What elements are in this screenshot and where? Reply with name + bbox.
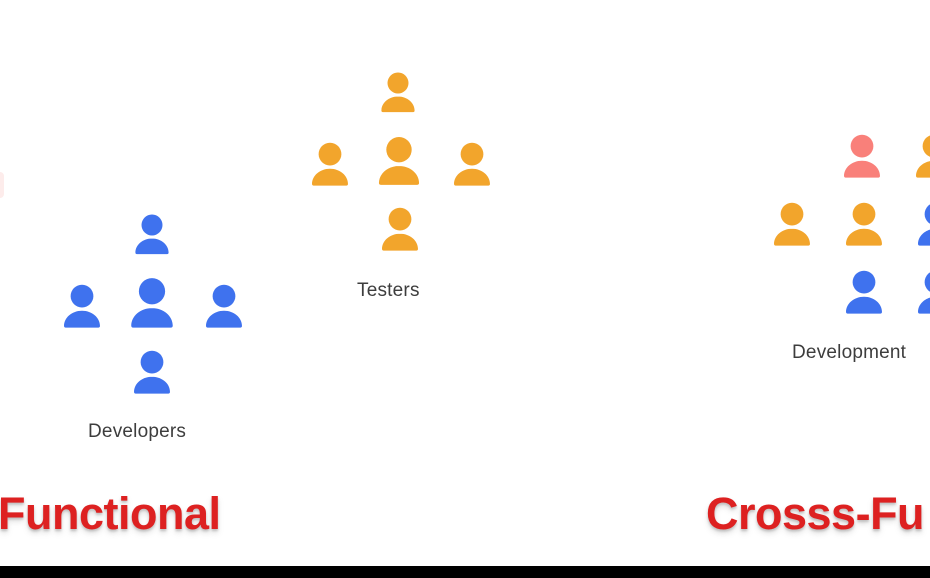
person-icon (766, 200, 818, 252)
person-icon (910, 268, 930, 320)
person-icon (374, 70, 422, 118)
group-label-testers: Testers (357, 280, 420, 302)
person-icon (838, 268, 890, 320)
person-icon (128, 212, 176, 260)
person-icon (374, 205, 426, 257)
person-icon (910, 200, 930, 252)
clipped-edge-artifact (0, 172, 4, 198)
person-icon (126, 348, 178, 400)
bottom-black-bar (0, 566, 930, 578)
caption-functional: Functional (0, 488, 220, 540)
person-icon (56, 282, 108, 334)
caption-functional-text: Functional (0, 488, 220, 539)
person-icon (370, 134, 428, 192)
person-icon (836, 132, 888, 184)
person-icon (838, 200, 890, 252)
person-icon (304, 140, 356, 192)
person-icon (198, 282, 250, 334)
slide-canvas: Developers (0, 0, 930, 578)
person-icon (446, 140, 498, 192)
caption-cross-functional: Crosss-Fu (706, 488, 924, 540)
caption-cross-functional-text: Crosss-Fu (706, 488, 924, 539)
person-icon (908, 132, 930, 184)
group-label-developers: Developers (88, 421, 186, 443)
person-icon (122, 275, 182, 335)
group-label-development-team: Development (792, 342, 906, 364)
